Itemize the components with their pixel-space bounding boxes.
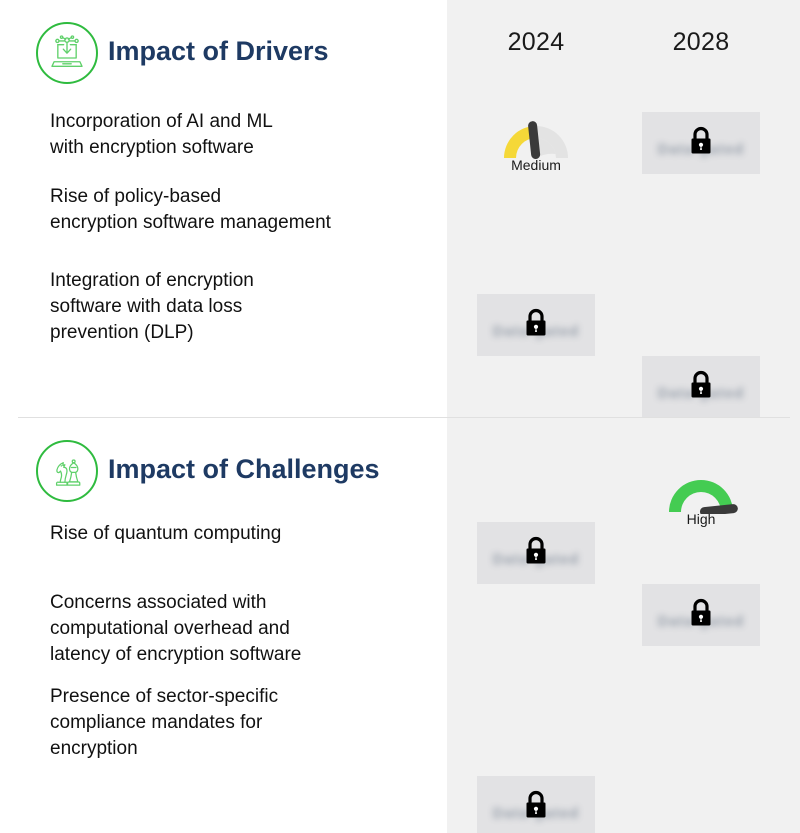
laptop-download-network-icon [36, 22, 98, 84]
locked-cell-drivers-1-2028[interactable]: Data gated [642, 112, 760, 174]
lock-icon [523, 789, 549, 826]
column-header-2028: 2028 [641, 28, 761, 57]
section-drivers: Impact of Drivers Incorporation of AI an… [0, 0, 447, 80]
section-drivers-title: Impact of Drivers [108, 36, 329, 67]
row-label-text: Incorporation of AI and ML with encrypti… [50, 111, 273, 158]
row-label-drivers-1: Incorporation of AI and ML with encrypti… [50, 109, 430, 161]
gauge-medium-svg [494, 112, 578, 160]
locked-cell-drivers-3-2028[interactable]: Data gated [642, 584, 760, 646]
gauge-high-svg [659, 466, 743, 514]
gauge-drivers-1-2024: Medium [477, 112, 595, 173]
section-challenges-header: Impact of Challenges [0, 418, 447, 498]
locked-cell-drivers-2-2028[interactable]: Data gated [642, 356, 760, 418]
gauge-label-medium: Medium [477, 157, 595, 173]
lock-icon [688, 597, 714, 634]
infographic-root: 2024 2028 Impact [0, 0, 800, 833]
section-drivers-header: Impact of Drivers [0, 0, 447, 80]
lock-icon [688, 125, 714, 162]
row-label-text: Presence of sector-specific compliance m… [50, 686, 278, 759]
row-label-challenges-2: Concerns associated with computational o… [50, 590, 430, 668]
row-label-challenges-1: Rise of quantum computing [50, 521, 430, 547]
row-label-text: Rise of quantum computing [50, 523, 281, 544]
section-challenges: Impact of Challenges Rise of quantum com… [0, 418, 447, 498]
locked-cell-challenges-1-2024[interactable]: Data gated [477, 776, 595, 833]
row-label-drivers-3: Integration of encryption software with … [50, 268, 430, 346]
row-label-text: Integration of encryption software with … [50, 270, 254, 343]
lock-icon [688, 369, 714, 406]
column-header-2024: 2024 [476, 28, 596, 57]
locked-cell-drivers-2-2024[interactable]: Data gated [477, 294, 595, 356]
lock-icon [523, 307, 549, 344]
row-label-drivers-2: Rise of policy-based encryption software… [50, 184, 430, 236]
locked-cell-drivers-3-2024[interactable]: Data gated [477, 522, 595, 584]
lock-icon [523, 535, 549, 572]
row-label-challenges-3: Presence of sector-specific compliance m… [50, 684, 430, 762]
row-label-text: Concerns associated with computational o… [50, 592, 301, 665]
section-challenges-title: Impact of Challenges [108, 454, 380, 485]
chess-pieces-icon [36, 440, 98, 502]
gauge-label-high: High [642, 511, 760, 527]
row-label-text: Rise of policy-based encryption software… [50, 186, 331, 233]
gauge-challenges-1-2028: High [642, 466, 760, 527]
